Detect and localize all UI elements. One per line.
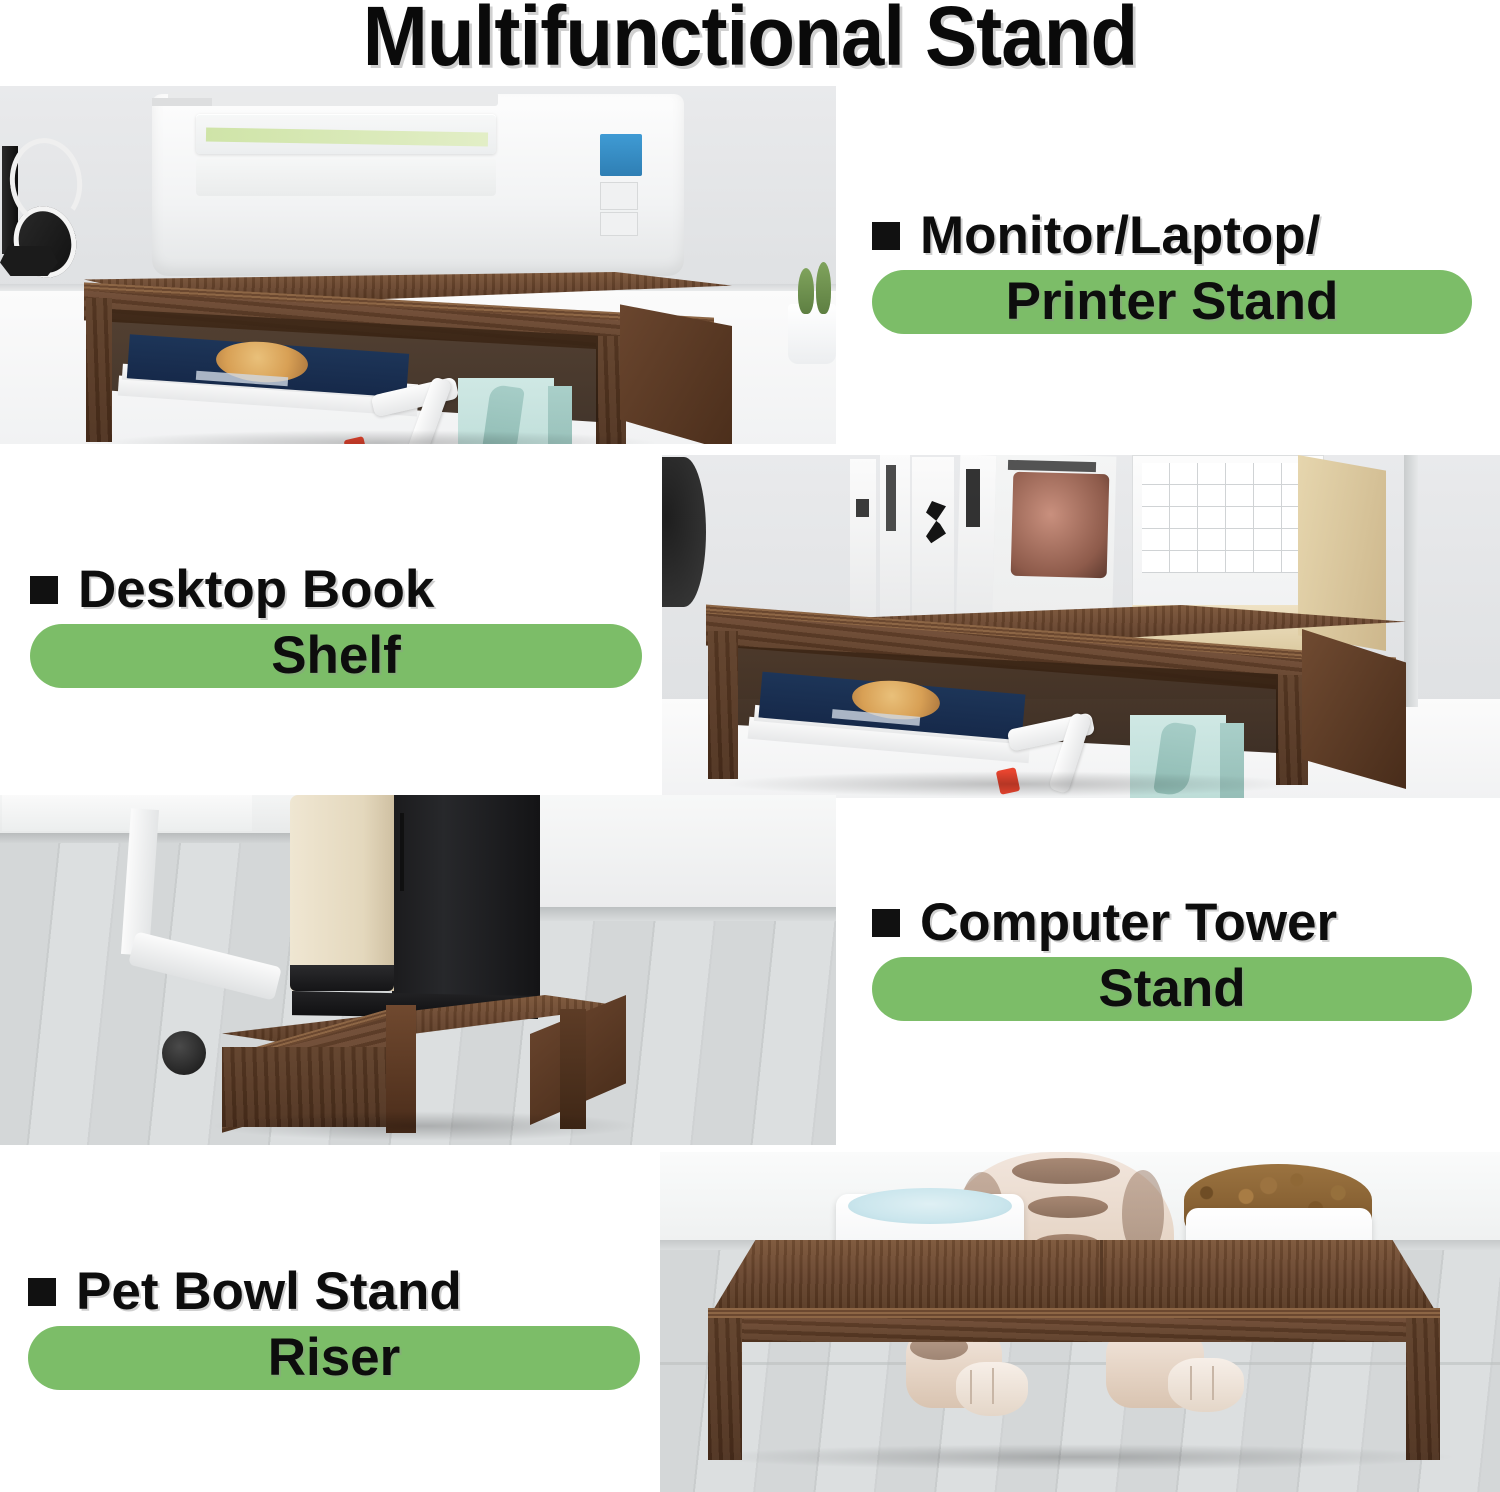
square-bullet-icon [872,222,900,250]
headphone-edge [662,457,706,607]
standing-book-2-title [886,465,896,531]
desk-caster-wheel [162,1031,206,1075]
computer-tower-front-panel [290,795,394,991]
riser-left-leg [86,298,112,442]
feature-line1: Computer Tower [920,893,1337,953]
feature-line1: Monitor/Laptop/ [920,206,1320,266]
feature-label-pet-bowl-stand-riser: Pet Bowl Stand Riser [28,1262,640,1390]
riser-floor-shadow [722,771,1302,797]
plant-leaf [798,268,814,314]
riser-left-leg [708,631,738,779]
printer-brand-mark [152,98,212,106]
printer-barcode [600,212,638,236]
riser-floor-shadow [700,1444,1460,1470]
paw-toe-line [970,1370,972,1404]
riser-right-leg [1406,1318,1440,1460]
feature-pill: Riser [28,1326,640,1390]
cat-paw-right [1168,1358,1244,1412]
square-bullet-icon [28,1278,56,1306]
baseboard-right [520,907,836,921]
pet-water-surface [848,1188,1012,1224]
standing-book-1-mark [856,499,869,517]
feature-pill: Printer Stand [872,270,1472,334]
feature-pill: Stand [872,957,1472,1021]
feature-line2: Shelf [271,628,401,684]
feature-label-desktop-book-shelf: Desktop Book Shelf [30,560,642,688]
stand-floor-shadow [210,1111,640,1141]
feature-label-computer-tower-stand: Computer Tower Stand [872,893,1472,1021]
computer-tower-photo [0,795,836,1145]
desk-underside [2,795,252,831]
cat-stripe [1012,1158,1120,1184]
riser-top-seam [1100,1240,1103,1312]
feature-line2: Stand [1098,961,1245,1017]
feature-line2: Riser [268,1330,401,1386]
tower-front-base [290,965,394,991]
square-bullet-icon [872,909,900,937]
cat-stripe [1028,1196,1108,1218]
standing-book-4-title [966,469,980,527]
paw-toe-line [1212,1366,1214,1400]
plant-leaf [816,262,831,314]
standing-book-3-S [912,457,954,635]
book-shelf-photo [662,455,1500,798]
feature-line1: Desktop Book [78,560,434,620]
printer-label [600,182,638,210]
feature-pill: Shelf [30,624,642,688]
desk-calendar-grid [1142,463,1314,573]
riser-floor-shadow [100,430,660,444]
printer-output-tray [196,158,496,196]
riser-left-leg [708,1318,742,1460]
feature-line2: Printer Stand [1006,274,1339,330]
feature-line1: Pet Bowl Stand [76,1262,462,1322]
printer-control-panel [600,134,642,176]
pet-bowl-photo [660,1152,1500,1492]
headphone-stand-base [0,246,58,276]
page-title: Multifunctional Stand [53,0,1448,82]
book-cover-artwork [1011,472,1110,578]
riser-top-surface [712,1240,1436,1312]
paw-toe-line [1190,1366,1192,1400]
standing-book-1 [850,459,876,633]
printer-on-stand-photo [0,86,836,444]
riser-front-apron [708,1318,1440,1342]
computer-tower-body [392,795,540,1009]
tile-seam [660,1362,1500,1365]
feature-label-monitor-laptop-printer-stand: Monitor/Laptop/ Printer Stand [872,206,1472,334]
wall-corner [1404,455,1418,707]
square-bullet-icon [30,576,58,604]
wall-right [520,795,836,919]
tower-vent-line [400,813,404,891]
plant-pot [788,304,836,364]
paw-toe-line [992,1368,994,1404]
printer-lid-edge [168,92,498,106]
